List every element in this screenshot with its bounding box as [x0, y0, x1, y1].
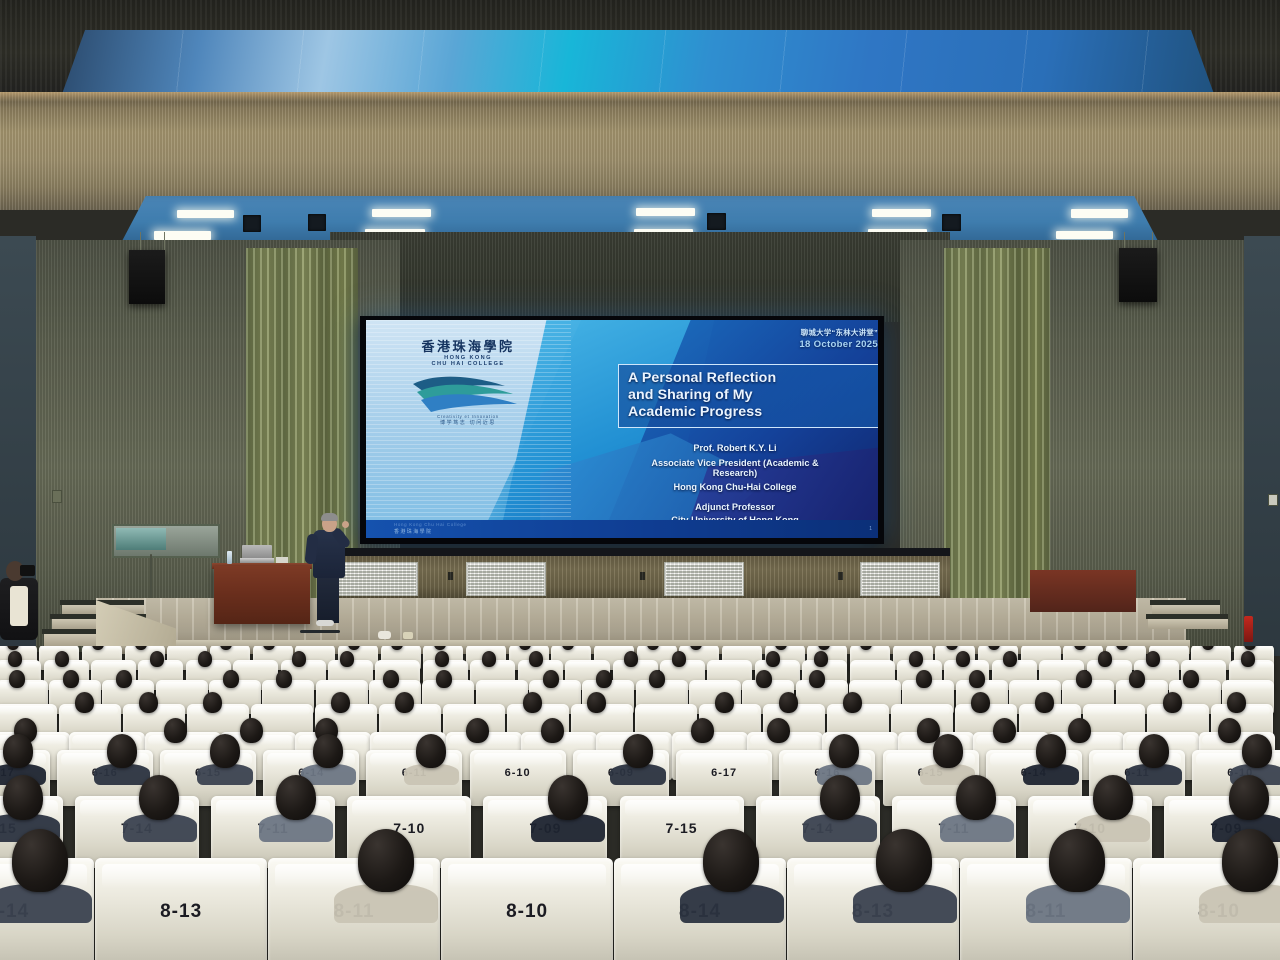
- audience-member: [1049, 829, 1105, 892]
- hanging-speaker-left: [129, 250, 165, 304]
- audience-member: [340, 651, 354, 666]
- audience-member: [829, 734, 859, 768]
- audience-member: [543, 670, 559, 688]
- far-right-wall: [1244, 236, 1280, 656]
- hanging-speaker-right: [1119, 248, 1157, 302]
- audience-member: [756, 670, 772, 688]
- presenter-name: Prof. Robert K.Y. Li: [594, 443, 876, 453]
- slide-page-number: 1: [869, 526, 872, 532]
- slide-title-line-2: and Sharing of My: [628, 387, 872, 404]
- audience-member: [1163, 692, 1182, 713]
- audience-member: [623, 734, 653, 768]
- ceiling-light: [154, 231, 211, 239]
- audience-member: [8, 651, 22, 666]
- audience-member: [139, 775, 179, 820]
- lecture-hall-photo: 香港珠海學院 HONG KONG CHU HAI COLLEGE Creativ…: [0, 0, 1280, 960]
- audience-member: [548, 775, 588, 820]
- audience-member: [116, 670, 132, 688]
- audience-member: [766, 651, 780, 666]
- audience-member: [139, 692, 158, 713]
- seat-number: 6-17: [676, 767, 772, 779]
- slide-footer-cn: 香港珠海學院: [394, 528, 432, 535]
- audience-member: [715, 692, 734, 713]
- wall-outlet-right: [1268, 494, 1278, 506]
- audience-member: [672, 651, 686, 666]
- audience-member: [12, 829, 68, 892]
- audience-member: [820, 775, 860, 820]
- ceiling-light: [177, 210, 234, 218]
- audience-member: [1146, 651, 1160, 666]
- audience-member: [1229, 775, 1269, 820]
- logo-name-en-line2: CHU HAI COLLEGE: [398, 361, 538, 367]
- audience-member: [435, 651, 449, 666]
- audience-member: [529, 651, 543, 666]
- audience-member: [1222, 829, 1278, 892]
- seat-number: 8-13: [95, 901, 267, 923]
- audience-member: [587, 692, 606, 713]
- audience-member: [703, 829, 759, 892]
- audience-member: [916, 670, 932, 688]
- logo-wave-mark: [409, 370, 527, 414]
- presenter-hand: [342, 521, 349, 528]
- audience-member: [198, 651, 212, 666]
- audience-member: [482, 651, 496, 666]
- audience-member: [909, 651, 923, 666]
- wall-vent: [664, 562, 744, 596]
- audience-member: [9, 670, 25, 688]
- laptop-screen[interactable]: [242, 545, 272, 559]
- logo-tagline-cn: 博学笃志 切问近思: [398, 419, 538, 426]
- presenter-role-line1: Associate Vice President (Academic &: [594, 458, 876, 468]
- audience-member: [1098, 651, 1112, 666]
- slide-title-box: A Personal Reflection and Sharing of My …: [618, 364, 878, 428]
- wall-vent: [334, 562, 418, 596]
- seat-number: 7-10: [347, 820, 471, 836]
- audience-member: [1183, 670, 1199, 688]
- audience-member: [1035, 692, 1054, 713]
- audience-member: [1139, 734, 1169, 768]
- floor-cable-box: [378, 631, 391, 639]
- stage-step[interactable]: [1148, 619, 1228, 629]
- audience-member: [767, 718, 790, 743]
- audience-member: [1093, 775, 1133, 820]
- audience-member: [779, 692, 798, 713]
- audience-member: [466, 718, 489, 743]
- audience-member: [203, 692, 222, 713]
- slide-title-line-1: A Personal Reflection: [628, 370, 872, 387]
- ceiling-spotlight: [942, 214, 961, 231]
- ceiling-light: [372, 209, 431, 217]
- audience-member: [876, 829, 932, 892]
- presenter-legs: [317, 575, 339, 623]
- slide-footer-bar: Hong Kong Chu Hai College 香港珠海學院 1: [366, 520, 878, 538]
- audience-member: [1076, 670, 1092, 688]
- cove-light-glow: [0, 92, 1280, 102]
- stage-front-wall: [330, 556, 950, 600]
- audience-member: [993, 718, 1016, 743]
- fire-extinguisher: [1244, 616, 1253, 642]
- slide-header-date: 18 October 2025: [366, 339, 878, 350]
- audience-member: [75, 692, 94, 713]
- audience-member: [395, 692, 414, 713]
- audience-member: [276, 670, 292, 688]
- stage-step[interactable]: [1152, 605, 1220, 614]
- audience-seating: 6-176-166-156-146-116-106-096-176-166-15…: [0, 646, 1280, 960]
- microphone-unit: [276, 557, 288, 563]
- audience-member: [1242, 734, 1272, 768]
- audience-member: [416, 734, 446, 768]
- laptop-keyboard[interactable]: [240, 558, 274, 563]
- audience-member: [223, 670, 239, 688]
- wall-fastener: [448, 572, 453, 580]
- slide-title-line-3: Academic Progress: [628, 404, 872, 421]
- audience-member: [624, 651, 638, 666]
- ceiling-light: [1071, 209, 1128, 217]
- presenter-hair: [321, 513, 338, 521]
- camera: [20, 565, 35, 576]
- seat-number: 6-10: [470, 767, 566, 779]
- audience-member: [1068, 718, 1091, 743]
- audience-member: [596, 670, 612, 688]
- slide-footer-en: Hong Kong Chu Hai College: [394, 522, 467, 527]
- ceiling-light: [636, 208, 695, 216]
- audience-member: [3, 775, 43, 820]
- photographer-scarf: [10, 586, 28, 626]
- audience-member: [541, 718, 564, 743]
- audience-member: [331, 692, 350, 713]
- audience-member: [240, 718, 263, 743]
- presenter-role-line2: Research): [594, 468, 876, 478]
- audience-member: [814, 651, 828, 666]
- presentation-screen[interactable]: 香港珠海學院 HONG KONG CHU HAI COLLEGE Creativ…: [366, 320, 878, 538]
- audience-member: [1129, 670, 1145, 688]
- presenter-affiliation: Hong Kong Chu-Hai College: [594, 482, 876, 492]
- audience-member: [164, 718, 187, 743]
- audience-member: [971, 692, 990, 713]
- presenter-shoes: [316, 620, 334, 626]
- ceiling-skylight-panel: [62, 30, 1214, 94]
- audience-member: [969, 670, 985, 688]
- upper-wood-wall: [0, 92, 1280, 210]
- wall-outlet-left: [52, 490, 62, 503]
- seat-number: 8-10: [441, 901, 613, 923]
- wall-vent: [466, 562, 546, 596]
- ceiling-light: [872, 209, 931, 217]
- audience-member: [691, 718, 714, 743]
- stage-cable: [300, 630, 340, 633]
- audience-member: [843, 692, 862, 713]
- floor-object: [403, 632, 413, 639]
- audience-member: [276, 775, 316, 820]
- slide-header: 聊城大学“东林大讲堂” 18 October 2025: [366, 327, 878, 350]
- audience-member: [1227, 692, 1246, 713]
- seat[interactable]: 8-10: [441, 858, 613, 960]
- audience-member: [1003, 651, 1017, 666]
- audience-member: [933, 734, 963, 768]
- wall-vent: [860, 562, 940, 596]
- audience-member: [150, 651, 164, 666]
- back-wall-upper: [330, 232, 950, 322]
- wall-fastener: [838, 572, 843, 580]
- audience-member: [436, 670, 452, 688]
- presenter-adjunct-title: Adjunct Professor: [594, 502, 876, 512]
- audience-member: [956, 651, 970, 666]
- audience-member: [1036, 734, 1066, 768]
- audience-member: [63, 670, 79, 688]
- audience-member: [3, 734, 33, 768]
- audience-member: [55, 651, 69, 666]
- audience-member: [956, 775, 996, 820]
- ceiling-spotlight: [308, 214, 326, 231]
- audience-member: [383, 670, 399, 688]
- slide-header-cn: 聊城大学“东林大讲堂”: [366, 327, 878, 338]
- audience-member: [313, 734, 343, 768]
- ceiling-spotlight: [707, 213, 726, 230]
- av-control-panel-display: [116, 528, 166, 550]
- audience-member: [1218, 718, 1241, 743]
- ceiling-light: [1056, 231, 1113, 239]
- stage-side-bench: [1030, 570, 1136, 612]
- wall-fastener: [640, 572, 645, 580]
- lectern: [214, 566, 310, 624]
- audience-member: [523, 692, 542, 713]
- audience-member: [1241, 651, 1255, 666]
- seat[interactable]: 8-13: [95, 858, 267, 960]
- audience-member: [292, 651, 306, 666]
- audience-member: [358, 829, 414, 892]
- audience-member: [210, 734, 240, 768]
- audience-member: [809, 670, 825, 688]
- audience-member: [107, 734, 137, 768]
- water-bottle: [227, 551, 232, 564]
- audience-member: [649, 670, 665, 688]
- slide-presenter-block: Prof. Robert K.Y. Li Associate Vice Pres…: [594, 443, 876, 525]
- ceiling-spotlight: [243, 215, 261, 232]
